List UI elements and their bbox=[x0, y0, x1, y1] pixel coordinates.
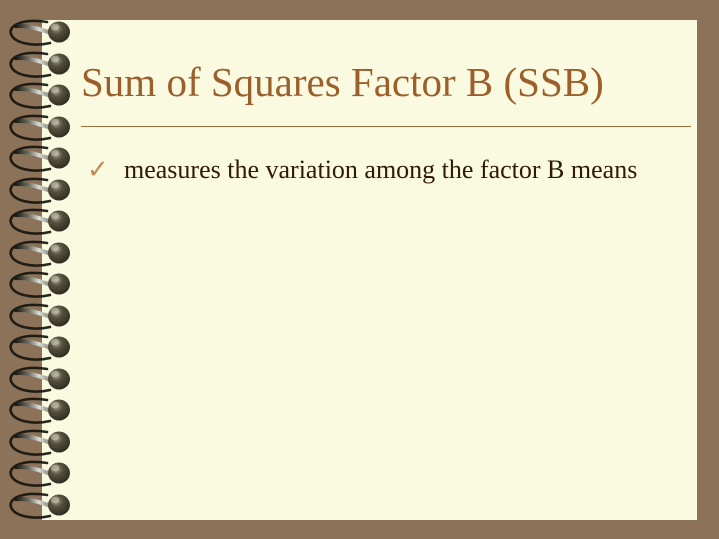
list-item: ✓ measures the variation among the facto… bbox=[87, 150, 667, 189]
checkmark-bullet-icon: ✓ bbox=[87, 150, 109, 189]
slide-canvas: Sum of Squares Factor B (SSB) ✓ measures… bbox=[0, 0, 719, 539]
title-divider-rule bbox=[81, 126, 691, 127]
bullet-list: ✓ measures the variation among the facto… bbox=[87, 150, 667, 189]
list-item-label: measures the variation among the factor … bbox=[124, 150, 667, 189]
page-title: Sum of Squares Factor B (SSB) bbox=[81, 58, 691, 106]
notepad-page: Sum of Squares Factor B (SSB) ✓ measures… bbox=[42, 20, 697, 520]
